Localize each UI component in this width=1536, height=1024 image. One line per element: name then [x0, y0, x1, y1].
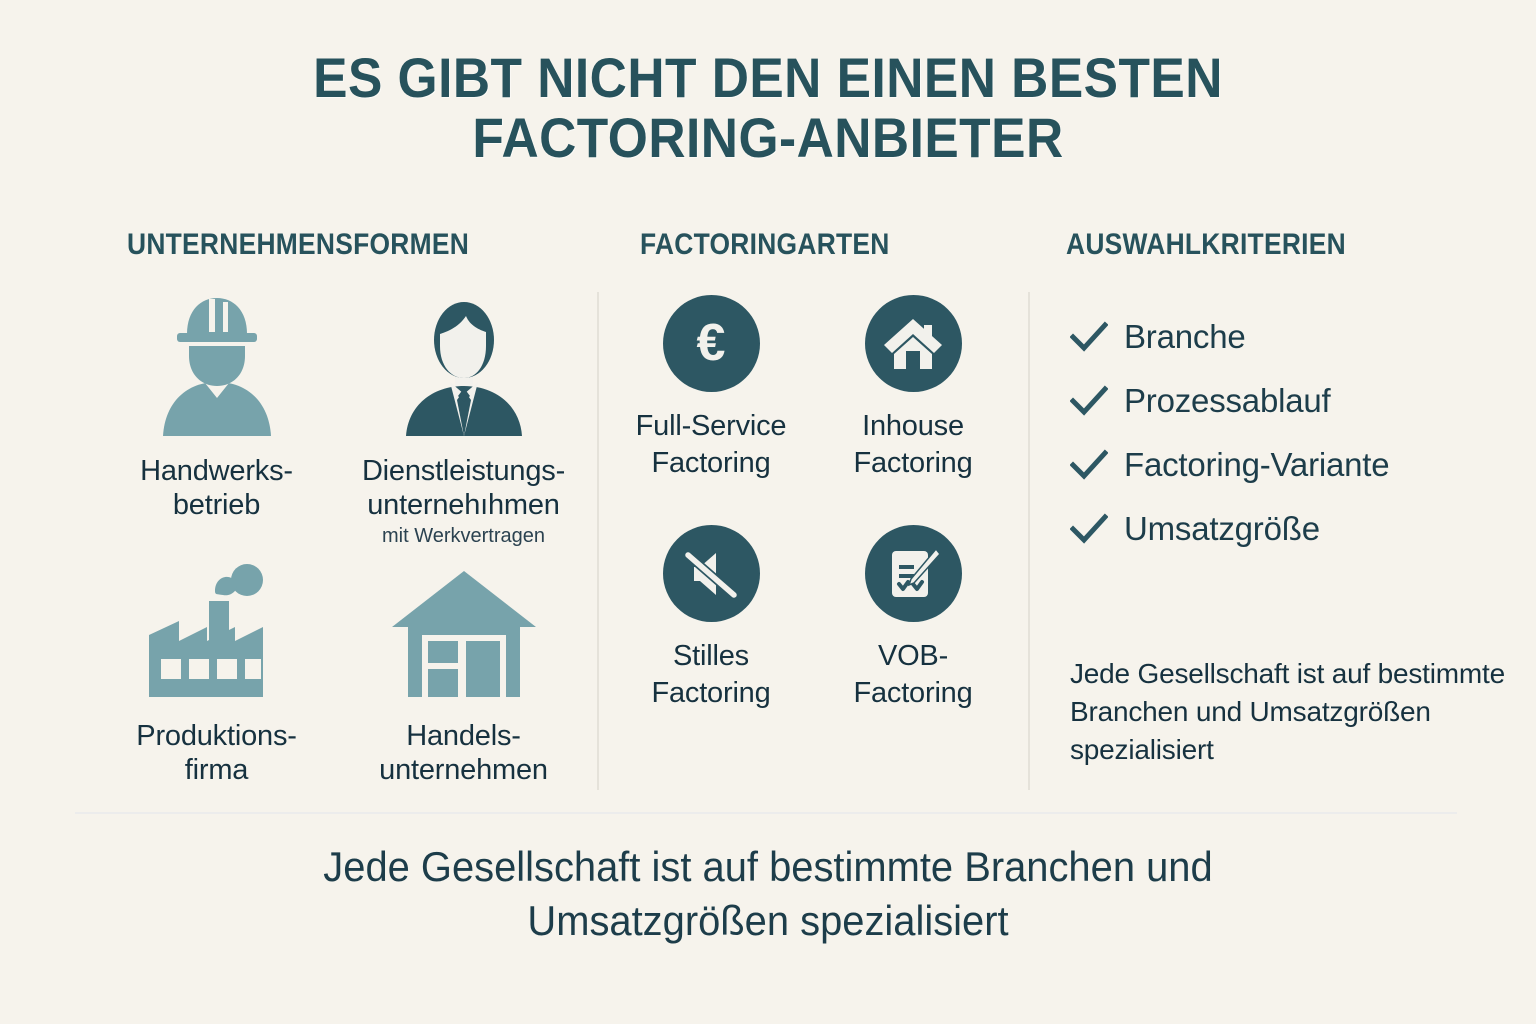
criteria-item: Prozessablauf [1070, 382, 1520, 420]
factoring-type-label: InhouseFactoring [814, 408, 1012, 482]
factoring-type-item: VOB-Factoring [814, 525, 1012, 712]
company-form-item: Dienstleistungs-unternehıhmen mit Werkve… [342, 285, 585, 550]
company-form-item: Handwerks-betrieb [95, 285, 338, 550]
criteria-label: Branche [1124, 318, 1246, 356]
factoring-type-label: VOB-Factoring [814, 638, 1012, 712]
column-divider-left [597, 292, 599, 790]
criteria-item: Branche [1070, 318, 1520, 356]
shop-house-icon [342, 550, 585, 705]
footer-line-2: Umsatzgrößen spezialisiert [38, 894, 1497, 948]
factoring-type-item: StillesFactoring [612, 525, 810, 712]
company-form-label: Handels-unternehmen [342, 719, 585, 787]
factoring-type-item: € Full-ServiceFactoring [612, 295, 810, 525]
factoring-type-label: StillesFactoring [612, 638, 810, 712]
check-icon [1070, 385, 1108, 417]
factoring-type-item: InhouseFactoring [814, 295, 1012, 525]
footer-text: Jede Gesellschaft ist auf bestimmte Bran… [38, 840, 1497, 948]
svg-text:€: € [697, 314, 726, 372]
company-forms-grid: Handwerks-betrieb Dienstleistungs-untern… [95, 285, 585, 787]
factory-icon [95, 550, 338, 705]
criteria-label: Factoring-Variante [1124, 446, 1389, 484]
factoring-types-grid: € Full-ServiceFactoring InhouseFactoring… [612, 295, 1012, 712]
muted-speaker-icon [663, 525, 760, 622]
company-form-label: Handwerks-betrieb [95, 454, 338, 522]
criteria-item: Umsatzgröße [1070, 510, 1520, 548]
footer-line-1: Jede Gesellschaft ist auf bestimmte Bran… [38, 840, 1497, 894]
businessman-icon [342, 285, 585, 440]
check-icon [1070, 321, 1108, 353]
factoring-type-label: Full-ServiceFactoring [612, 408, 810, 482]
criteria-list: Branche Prozessablauf Factoring-Variante… [1070, 318, 1520, 574]
column-divider-right [1028, 292, 1030, 790]
company-form-label: Dienstleistungs-unternehıhmen [342, 454, 585, 522]
column-header-company-forms: UNTERNEHMENSFORMEN [127, 228, 469, 262]
footer-divider [75, 812, 1457, 814]
title-line-1: ES GIBT NICHT DEN EINEN BESTEN [61, 48, 1474, 108]
company-form-sublabel: mit Werkvertragen [342, 524, 585, 548]
title-line-2: FACTORING-ANBIETER [61, 108, 1474, 168]
construction-worker-icon [95, 285, 338, 440]
check-icon [1070, 449, 1108, 481]
house-icon [865, 295, 962, 392]
column-header-criteria: AUSWAHLKRITERIEN [1066, 228, 1346, 262]
document-check-pen-icon [865, 525, 962, 622]
company-form-label: Produktions-firma [95, 719, 338, 787]
check-icon [1070, 513, 1108, 545]
company-form-item: Handels-unternehmen [342, 550, 585, 787]
criteria-label: Prozessablauf [1124, 382, 1331, 420]
column-header-factoring-types: FACTORINGARTEN [640, 228, 890, 262]
page-title: ES GIBT NICHT DEN EINEN BESTEN FACTORING… [0, 48, 1536, 168]
criteria-item: Factoring-Variante [1070, 446, 1520, 484]
euro-icon: € [663, 295, 760, 392]
criteria-label: Umsatzgröße [1124, 510, 1320, 548]
company-form-item: Produktions-firma [95, 550, 338, 787]
criteria-note: Jede Gesellschaft ist auf bestimmte Bran… [1070, 655, 1530, 769]
